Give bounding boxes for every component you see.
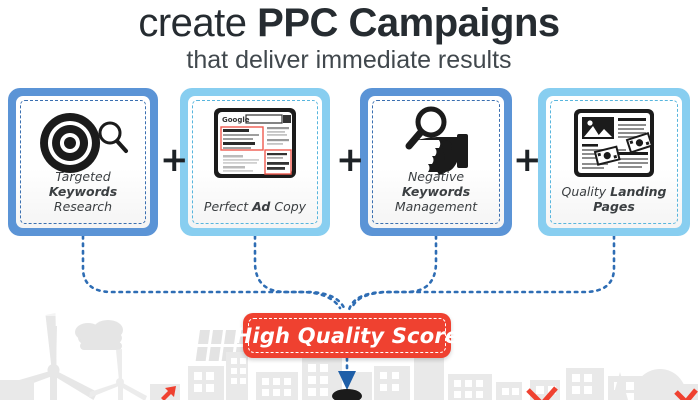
connector-card1 [83, 236, 340, 308]
card-inner: Targeted Keywords Research [16, 96, 150, 228]
label-bold: Ad [252, 199, 270, 214]
label-line2: Research [54, 199, 112, 214]
label-bold: Keywords [49, 184, 117, 199]
landing-page-document-icon [571, 106, 657, 180]
title-bold-part: PPC Campaigns [257, 1, 559, 45]
card-label: Negative Keywords Management [372, 169, 500, 214]
label-line2: Management [395, 199, 477, 214]
card-perfect-ad-copy[interactable]: Google [180, 88, 330, 236]
card-quality-landing-pages[interactable]: Quality Landing Pages [538, 88, 690, 236]
label-prefix: Targeted [55, 169, 110, 184]
card-label: Targeted Keywords Research [20, 169, 146, 214]
connector-card3 [349, 236, 436, 310]
card-negative-keywords-management[interactable]: Negative Keywords Management [360, 88, 512, 236]
infographic-canvas: create PPC Campaigns that deliver immedi… [0, 0, 698, 400]
search-results-page-icon: Google [212, 106, 298, 180]
label-prefix: Quality [561, 184, 610, 199]
search-button-icon [283, 115, 291, 123]
label-prefix: Negative [408, 169, 464, 184]
page-title: create PPC Campaigns that deliver immedi… [0, 0, 698, 74]
title-line: create PPC Campaigns [0, 1, 698, 45]
label-prefix: Perfect [204, 199, 252, 214]
card-label: Perfect Ad Copy [192, 199, 318, 214]
operator-plus-2: + [336, 148, 360, 172]
title-light-part: create [138, 1, 246, 45]
label-suffix: Copy [270, 199, 306, 214]
connector-card4 [352, 236, 614, 308]
card-inner: Google [188, 96, 322, 228]
badge-label: High Quality Score [243, 313, 451, 358]
label-line2: Pages [593, 199, 635, 214]
magnifier-icon [100, 123, 126, 151]
card-label: Quality Landing Pages [550, 184, 678, 214]
operator-plus-1: + [160, 148, 184, 172]
magnifier-icon [409, 109, 444, 146]
label-bold: Landing [610, 184, 666, 199]
icon-container [546, 104, 682, 182]
high-quality-score-badge[interactable]: High Quality Score [243, 313, 451, 358]
icon-container: Google [188, 104, 322, 182]
down-arrow-icon [332, 358, 362, 400]
label-bold: Keywords [402, 184, 470, 199]
page-subtitle: that deliver immediate results [0, 46, 698, 74]
card-inner: Negative Keywords Management [368, 96, 504, 228]
operator-plus-3: + [513, 148, 537, 172]
card-targeted-keywords-research[interactable]: Targeted Keywords Research [8, 88, 158, 236]
card-inner: Quality Landing Pages [546, 96, 682, 228]
